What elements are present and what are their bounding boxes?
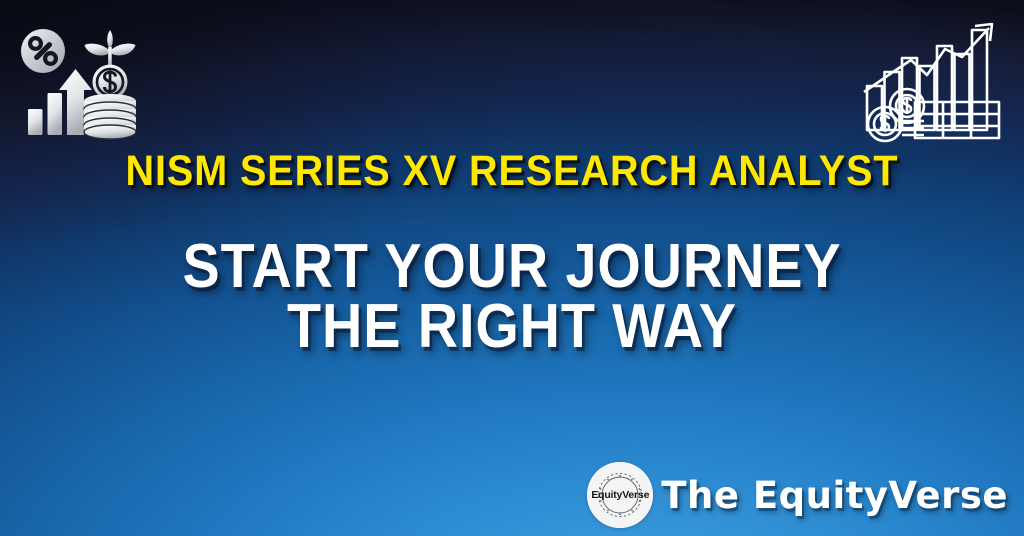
banner-headline: START YOUR JOURNEY THE RIGHT WAY [51, 237, 973, 357]
promo-banner: NISM SERIES XV RESEARCH ANALYST START YO… [0, 0, 1024, 536]
growth-chart-coins-icon [861, 16, 1009, 144]
headline-line-1: START YOUR JOURNEY [51, 237, 973, 297]
banner-eyebrow: NISM SERIES XV RESEARCH ANALYST [41, 150, 983, 193]
percent-circle-icon [21, 29, 65, 73]
headline-line-2: THE RIGHT WAY [51, 297, 973, 357]
brand-wordmark: The EquityVerse [661, 474, 1008, 517]
brand-badge-icon[interactable]: EquityVerse [587, 462, 653, 528]
brand-lockup[interactable]: EquityVerse The EquityVerse [587, 462, 1008, 528]
coin-stack-plant-icon [84, 30, 136, 139]
bar-chart-up-arrow-icon [28, 69, 92, 135]
banner-text-block: NISM SERIES XV RESEARCH ANALYST START YO… [0, 150, 1024, 357]
brand-badge-label: EquityVerse [591, 489, 649, 501]
finance-growth-icon-group [14, 22, 138, 140]
